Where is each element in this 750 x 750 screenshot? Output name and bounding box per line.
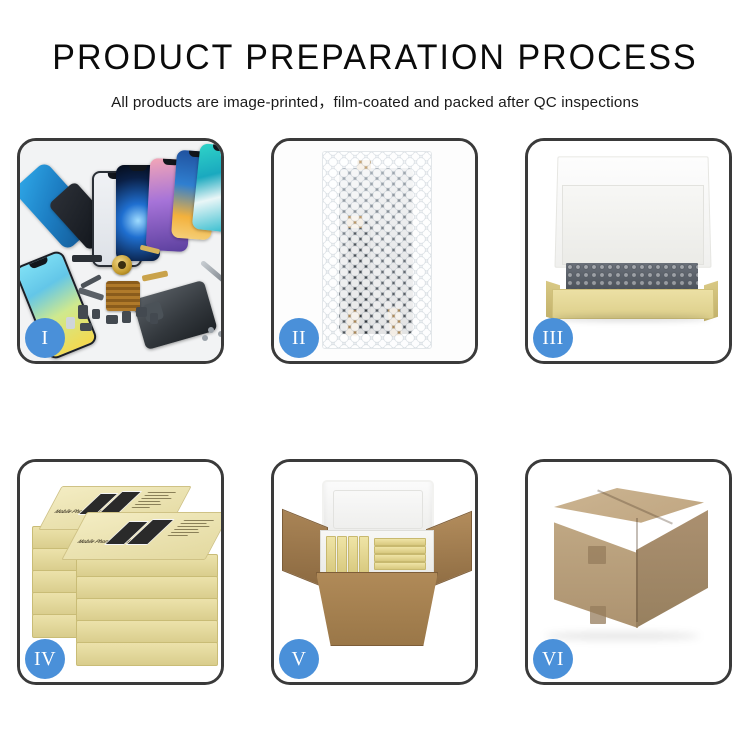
page-subtitle: All products are image-printed，film-coat… xyxy=(0,90,750,112)
inner-boxes-group xyxy=(326,536,426,574)
step-badge-6: VI xyxy=(533,639,573,679)
screws-icon xyxy=(208,327,214,333)
carton-tape-patch-bottom xyxy=(590,606,606,624)
step-badge-5: V xyxy=(279,639,319,679)
flex-cable-3-icon xyxy=(142,270,169,281)
step-panel-2[interactable]: II xyxy=(271,138,478,364)
bubble-wrap-bag-icon xyxy=(322,151,432,349)
box-stack-icon: Mobile Phone Spare Parts Mobile Phone Sp… xyxy=(32,482,218,662)
sealed-carton-icon xyxy=(550,488,714,638)
step-panel-4[interactable]: Mobile Phone Spare Parts Mobile Phone Sp… xyxy=(17,459,224,685)
product-preparation-infographic: PRODUCT PREPARATION PROCESS All products… xyxy=(0,0,750,750)
carton-right-face xyxy=(636,510,708,628)
carton-shadow xyxy=(544,632,700,640)
carton-tape-patch-top xyxy=(588,546,606,564)
step-badge-3: III xyxy=(533,318,573,358)
box-back-wall-icon xyxy=(562,185,704,265)
step-badge-2: II xyxy=(279,318,319,358)
tweezers-icon xyxy=(200,260,221,283)
step-panel-3[interactable]: III xyxy=(525,138,732,364)
step-panel-6[interactable]: VI xyxy=(525,459,732,685)
step-panel-5[interactable]: V xyxy=(271,459,478,685)
steps-grid: I II xyxy=(17,138,733,685)
carton-body-icon xyxy=(316,572,438,646)
box-shadow xyxy=(554,315,710,322)
step-badge-4: IV xyxy=(25,639,65,679)
speaker-coil-icon xyxy=(112,255,132,275)
bubble-texture xyxy=(322,151,432,349)
battery-connector-icon xyxy=(72,255,102,262)
flex-cable-icon xyxy=(80,274,102,289)
step-badge-1: I xyxy=(25,318,65,358)
page-title: PRODUCT PREPARATION PROCESS xyxy=(11,38,739,78)
step-panel-1[interactable]: I xyxy=(17,138,224,364)
header: PRODUCT PREPARATION PROCESS All products… xyxy=(0,0,750,112)
chip-grid-icon xyxy=(106,281,140,311)
